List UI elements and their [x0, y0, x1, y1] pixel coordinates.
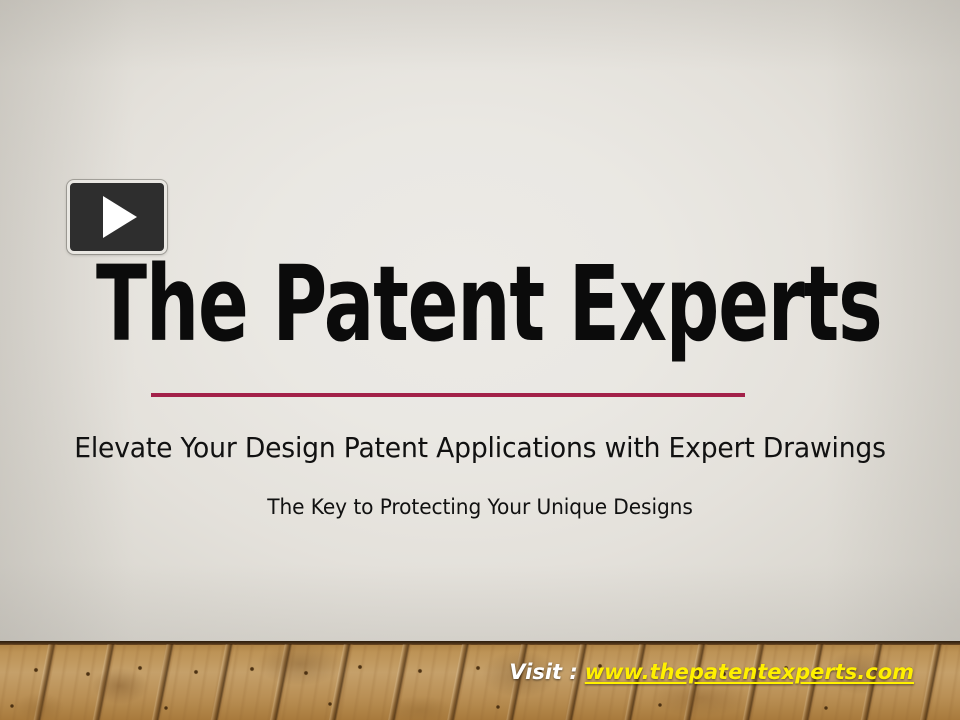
subtitle-secondary: The Key to Protecting Your Unique Design…	[19, 495, 941, 519]
footer-visit: Visit : www.thepatentexperts.com	[509, 660, 914, 684]
website-link[interactable]: www.thepatentexperts.com	[585, 660, 914, 684]
play-icon	[103, 196, 137, 238]
presentation-slide: The Patent Experts Elevate Your Design P…	[0, 0, 960, 720]
subtitle-primary: Elevate Your Design Patent Applications …	[24, 431, 936, 464]
page-title: The Patent Experts	[96, 252, 864, 356]
accent-divider	[151, 393, 745, 397]
visit-label: Visit :	[509, 660, 578, 684]
